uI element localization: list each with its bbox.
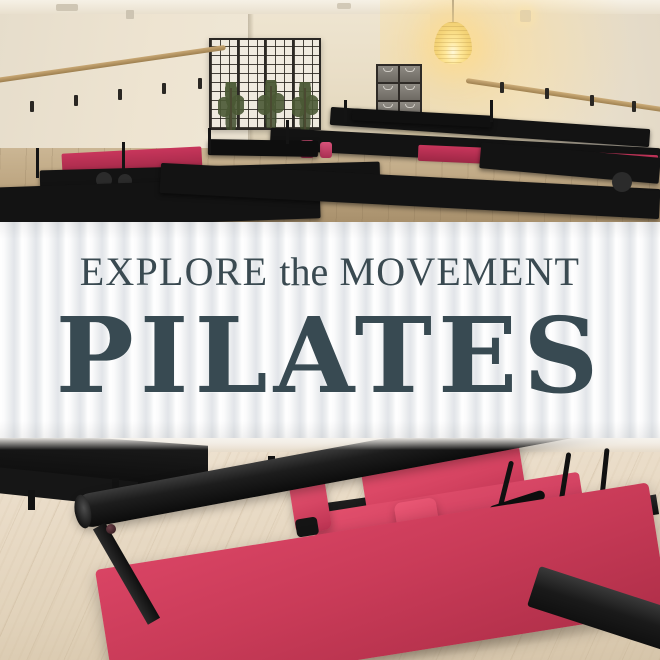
photo-top-fade xyxy=(0,438,660,450)
barre-bracket xyxy=(500,82,504,93)
barre-bracket xyxy=(118,89,122,100)
potted-plant xyxy=(292,82,318,130)
studio-photo-top xyxy=(0,0,660,222)
reformer-post xyxy=(122,142,125,170)
pilates-promo-poster: EXPLORE the MOVEMENT PILATES xyxy=(0,0,660,660)
strut-bolt xyxy=(106,524,116,534)
ceiling-vent-icon xyxy=(56,4,78,11)
storage-bin xyxy=(400,84,420,100)
machine-leg xyxy=(28,490,35,510)
potted-plant xyxy=(218,82,244,130)
reformer-photo-bottom xyxy=(0,438,660,660)
barre-bracket xyxy=(74,95,78,106)
wall-switch-icon xyxy=(126,10,134,19)
reformer-post xyxy=(208,128,211,154)
storage-bin xyxy=(378,84,398,100)
reformer-wheel xyxy=(612,172,632,192)
ceiling-vent-icon xyxy=(337,3,351,9)
headline-the: the xyxy=(279,249,328,294)
headline-explore: EXPLORE xyxy=(80,249,268,294)
shoulder-block xyxy=(320,142,332,158)
storage-bin xyxy=(400,66,420,82)
reformer-post xyxy=(286,120,289,144)
barre-bracket xyxy=(30,101,34,112)
headline-movement: MOVEMENT xyxy=(339,249,580,294)
reformer-machine xyxy=(208,139,318,157)
reformer-post xyxy=(36,148,39,178)
pendant-lamp-icon xyxy=(434,22,472,64)
pendant-cord xyxy=(452,0,454,24)
potted-plant xyxy=(258,80,284,128)
ceiling xyxy=(0,0,660,14)
reformer-post xyxy=(490,100,493,122)
reformer-post xyxy=(344,100,347,122)
storage-bin xyxy=(378,66,398,82)
barre-bracket xyxy=(590,95,594,106)
page-title: PILATES xyxy=(0,304,660,408)
barre-bracket xyxy=(162,83,166,94)
title-banner: EXPLORE the MOVEMENT PILATES xyxy=(0,222,660,438)
barre-bracket xyxy=(198,78,202,89)
barre-bracket xyxy=(545,88,549,99)
wall-sconce-icon xyxy=(520,10,531,22)
barre-bracket xyxy=(632,101,636,112)
headline: EXPLORE the MOVEMENT xyxy=(0,252,660,292)
